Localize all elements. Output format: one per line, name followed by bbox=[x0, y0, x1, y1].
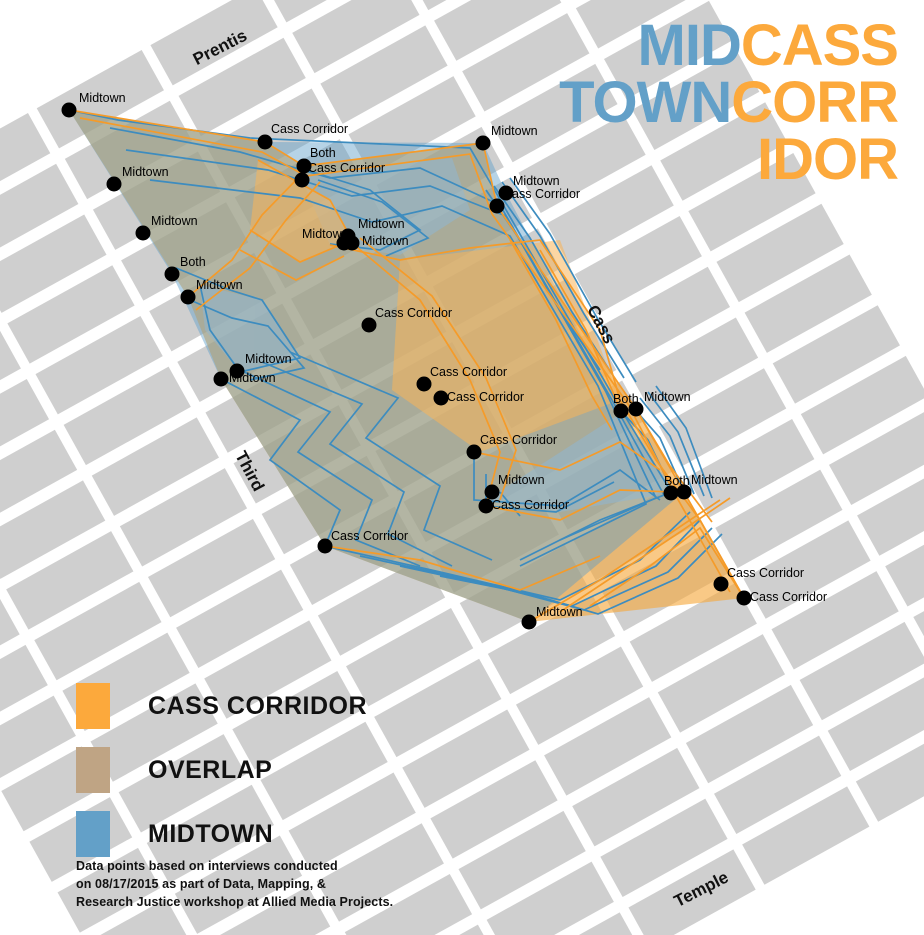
data-point-dot[interactable] bbox=[62, 103, 77, 118]
map-root: Prentis Third Cass Temple MidtownMidtown… bbox=[0, 0, 924, 935]
legend-swatch-midtown bbox=[76, 811, 110, 857]
data-point-label: Cass Corridor bbox=[331, 529, 408, 543]
data-point-dot[interactable] bbox=[136, 226, 151, 241]
legend-item-overlap: OVERLAP bbox=[76, 747, 367, 793]
legend-swatch-cass-corridor bbox=[76, 683, 110, 729]
data-point-label: Midtown bbox=[644, 390, 691, 404]
data-point-label: Cass Corridor bbox=[492, 498, 569, 512]
footnote-line-1: Data points based on interviews conducte… bbox=[76, 858, 393, 876]
data-point-label: Both bbox=[310, 146, 336, 160]
data-point-label: Midtown bbox=[691, 473, 738, 487]
data-point-dot[interactable] bbox=[214, 372, 229, 387]
data-point-dot[interactable] bbox=[522, 615, 537, 630]
title-line-3: IDOR bbox=[559, 132, 898, 189]
data-point-label: Midtown bbox=[245, 352, 292, 366]
title-line-1: MIDCASS bbox=[559, 18, 898, 75]
data-point-label: Cass Corridor bbox=[750, 590, 827, 604]
title-idor: IDOR bbox=[757, 127, 898, 192]
data-point-label: Both bbox=[613, 392, 639, 406]
data-point-label: Midtown bbox=[491, 124, 538, 138]
data-point-dot[interactable] bbox=[476, 136, 491, 151]
data-point-dot[interactable] bbox=[258, 135, 273, 150]
title-corr: CORR bbox=[731, 70, 898, 135]
footnote-line-3: Research Justice workshop at Allied Medi… bbox=[76, 894, 393, 912]
data-point-label: Cass Corridor bbox=[447, 390, 524, 404]
data-point-label: Midtown bbox=[229, 371, 276, 385]
data-point-label: Midtown bbox=[151, 214, 198, 228]
data-point-label: Both bbox=[180, 255, 206, 269]
legend: CASS CORRIDOR OVERLAP MIDTOWN bbox=[76, 683, 367, 875]
data-point-label: Cass Corridor bbox=[480, 433, 557, 447]
legend-label-cass-corridor: CASS CORRIDOR bbox=[148, 692, 367, 721]
data-point-label: Midtown bbox=[536, 605, 583, 619]
data-point-label: Cass Corridor bbox=[727, 566, 804, 580]
data-point-label: Midtown bbox=[196, 278, 243, 292]
data-point-label: Midtown bbox=[362, 234, 409, 248]
data-point-dot[interactable] bbox=[165, 267, 180, 282]
legend-swatch-overlap bbox=[76, 747, 110, 793]
data-point-label: Cass Corridor bbox=[430, 365, 507, 379]
data-point-label: Cass Corridor bbox=[503, 187, 580, 201]
data-point-dot[interactable] bbox=[107, 177, 122, 192]
title-cass: CASS bbox=[741, 13, 898, 78]
data-point-label: Midtown bbox=[358, 217, 405, 231]
data-point-label: Midtown bbox=[498, 473, 545, 487]
data-point-label: Midtown bbox=[513, 174, 560, 188]
legend-item-cass-corridor: CASS CORRIDOR bbox=[76, 683, 367, 729]
data-point-label: Cass Corridor bbox=[375, 306, 452, 320]
title-town: TOWN bbox=[559, 70, 731, 135]
footnote-line-2: on 08/17/2015 as part of Data, Mapping, … bbox=[76, 876, 393, 894]
data-point-label: Midtown bbox=[302, 227, 349, 241]
data-point-dot[interactable] bbox=[181, 290, 196, 305]
data-point-label: Midtown bbox=[79, 91, 126, 105]
data-point-label: Midtown bbox=[122, 165, 169, 179]
title-mid: MID bbox=[638, 13, 741, 78]
footnote: Data points based on interviews conducte… bbox=[76, 858, 393, 911]
data-point-label: Cass Corridor bbox=[271, 122, 348, 136]
legend-label-overlap: OVERLAP bbox=[148, 756, 272, 785]
title-line-2: TOWNCORR bbox=[559, 75, 898, 132]
page-title: MIDCASS TOWNCORR IDOR bbox=[559, 18, 898, 188]
legend-label-midtown: MIDTOWN bbox=[148, 820, 273, 849]
data-point-label: Both bbox=[664, 474, 690, 488]
legend-item-midtown: MIDTOWN bbox=[76, 811, 367, 857]
data-point-label: Cass Corridor bbox=[308, 161, 385, 175]
